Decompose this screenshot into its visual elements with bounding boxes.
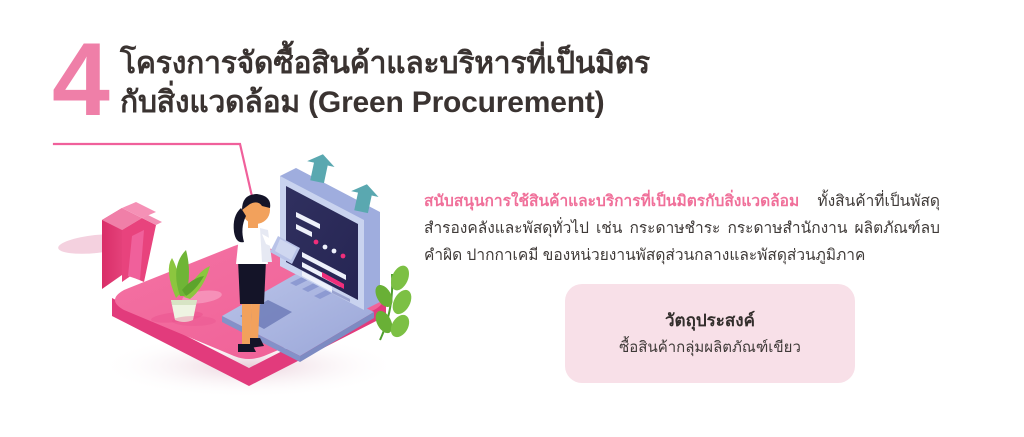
body-paragraph: สนับสนุนการใช้สินค้าและบริการที่เป็นมิตร… <box>424 188 940 269</box>
heading-line-2: กับสิ่งแวดล้อม (Green Procurement) <box>120 83 800 122</box>
3d-letter-a-icon <box>57 202 162 289</box>
heading-line-1: โครงการจัดซื้อสินค้าและบริหารที่เป็นมิตร <box>120 44 800 83</box>
green-procurement-illustration <box>44 150 434 400</box>
objective-card: วัตถุประสงค์ ซื้อสินค้ากลุ่มผลิตภัณฑ์เขี… <box>565 284 855 383</box>
section-number: 4 <box>52 28 106 132</box>
page-title: โครงการจัดซื้อสินค้าและบริหารที่เป็นมิตร… <box>120 44 800 122</box>
body-lead-text: สนับสนุนการใช้สินค้าและบริการที่เป็นมิตร… <box>424 193 799 210</box>
poster-canvas: 4 โครงการจัดซื้อสินค้าและบริหารที่เป็นมิ… <box>0 0 1024 437</box>
objective-text: ซื้อสินค้ากลุ่มผลิตภัณฑ์เขียว <box>619 338 801 357</box>
objective-title: วัตถุประสงค์ <box>665 311 755 331</box>
